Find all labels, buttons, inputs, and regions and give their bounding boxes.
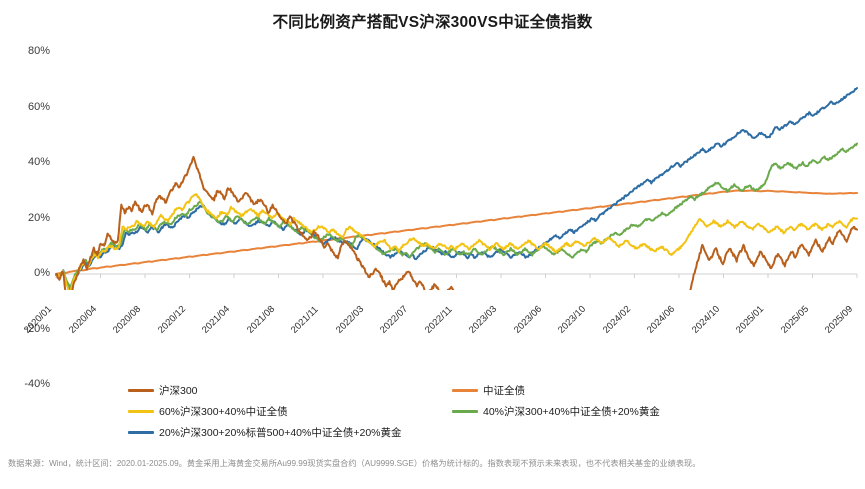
x-axis-tick-label: 2021/08 [245,304,277,336]
y-axis-tick-label: 40% [10,156,50,168]
legend-item[interactable]: 20%沪深300+20%标普500+40%中证全债+20%黄金 [128,425,402,440]
x-axis-tick-label: 2025/05 [779,304,811,336]
legend-item-label: 20%沪深300+20%标普500+40%中证全债+20%黄金 [159,425,402,440]
legend-item[interactable]: 60%沪深300+40%中证全债 [128,404,288,419]
y-axis-tick-label: 20% [10,212,50,224]
x-axis-tick-label: 2023/06 [512,304,544,336]
legend-item-label: 沪深300 [159,383,198,398]
x-axis-tick-label: 2020/04 [67,304,99,336]
footnote-source: 数据来源：Wind，统计区间：2020.01-2025.09。黄金采用上海黄金交… [8,458,863,471]
y-axis-tick-label: 80% [10,45,50,57]
legend-item[interactable]: 中证全债 [452,383,525,398]
legend-color-swatch [128,410,154,413]
x-axis-tick-label: 2023/03 [467,304,499,336]
x-axis-tick-label: 2022/11 [423,304,455,336]
legend-color-swatch [452,389,478,392]
x-axis-tick-label: 2022/03 [334,304,366,336]
series-line-mix_40_40_20 [56,144,857,289]
legend-item[interactable]: 40%沪深300+40%中证全债+20%黄金 [452,404,660,419]
y-axis-tick-label: 60% [10,101,50,113]
x-axis-tick-label: 2024/06 [645,304,677,336]
legend-item-label: 40%沪深300+40%中证全债+20%黄金 [483,404,660,419]
x-axis-tick-label: 2020/08 [111,304,143,336]
x-axis-tick-label: 2023/10 [556,304,588,336]
x-axis-tick-label: 2020/12 [156,304,188,336]
x-axis-tick-label: 2024/10 [690,304,722,336]
x-axis-tick-label: 2022/07 [378,304,410,336]
x-axis-tick-label: 2025/01 [734,304,766,336]
chart-plot-area [0,40,865,290]
legend-item-label: 中证全债 [483,383,525,398]
legend-item-label: 60%沪深300+40%中证全债 [159,404,288,419]
x-axis-tick-label: 2024/02 [601,304,633,336]
x-axis-tick-label: 2025/09 [823,304,855,336]
page-title: 不同比例资产搭配VS沪深300VS中证全债指数 [0,10,865,32]
chart-legend: 沪深300中证全债60%沪深300+40%中证全债40%沪深300+40%中证全… [0,383,865,445]
legend-item[interactable]: 沪深300 [128,383,198,398]
line-chart-svg [0,40,865,290]
legend-color-swatch [128,431,154,434]
x-axis-tick-label: 2021/04 [200,304,232,336]
x-axis-tick-label: 2021/11 [289,304,321,336]
legend-color-swatch [452,410,478,413]
y-axis-tick-label: 0% [10,267,50,279]
legend-color-swatch [128,389,154,392]
